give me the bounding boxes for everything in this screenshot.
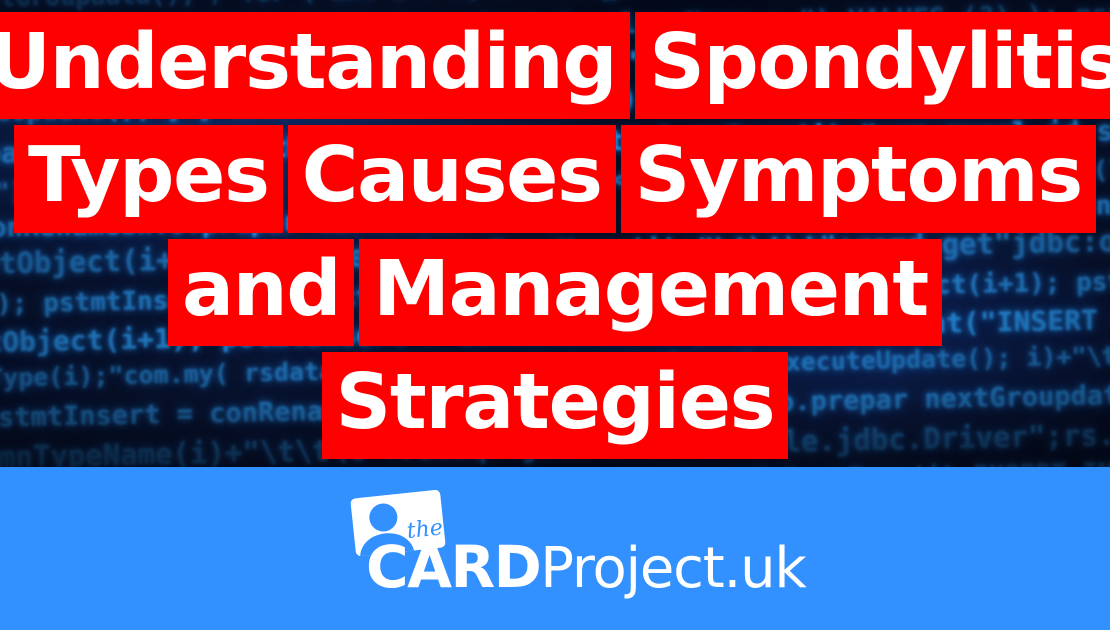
headline-word: Strategies [322, 352, 789, 459]
headline-word: Understanding [0, 12, 630, 119]
headline-line: Understanding Spondylitis [0, 12, 1110, 119]
hero-image-area: nextGroupdata(); / for ( int i = 0; i < … [0, 0, 1110, 467]
headline-word: Types [14, 125, 283, 232]
social-share-banner: nextGroupdata(); / for ( int i = 0; i < … [0, 0, 1110, 630]
logo-brand-bold: CARD [366, 533, 540, 601]
logo-wordmark: CARDProject.uk [366, 538, 770, 597]
headline-word: and [168, 239, 354, 346]
headline-line: Strategies [322, 352, 789, 459]
headline-word: Management [359, 239, 942, 346]
headline-word: Causes [288, 125, 616, 232]
headline-word: Spondylitis [635, 12, 1110, 119]
headline-line: and Management [168, 239, 942, 346]
logo-brand-light: Project.uk [540, 536, 805, 601]
headline-word: Symptoms [621, 125, 1096, 232]
card-project-logo[interactable]: the CARDProject.uk [340, 490, 770, 610]
headline-block: Understanding Spondylitis Types Causes S… [0, 0, 1110, 467]
headline-line: Types Causes Symptoms [14, 125, 1096, 232]
brand-footer: the CARDProject.uk [0, 467, 1110, 630]
